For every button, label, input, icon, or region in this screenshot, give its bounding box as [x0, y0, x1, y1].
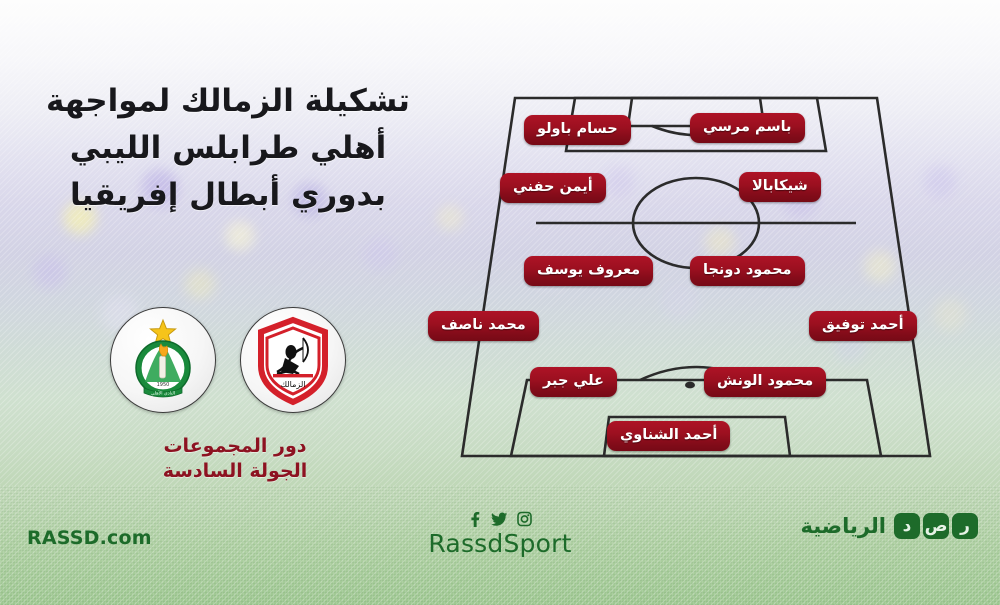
- footer-social: RassdSport: [400, 508, 600, 558]
- footer-logo-letter-3: د: [894, 513, 920, 539]
- player-chip-winger-right[interactable]: شيكابالا: [739, 172, 821, 202]
- player-chip-fullback-left[interactable]: محمد ناصف: [428, 311, 539, 341]
- footer-site-link[interactable]: RASSD.com: [27, 527, 152, 549]
- player-chip-midfield-left[interactable]: معروف يوسف: [524, 256, 653, 286]
- player-chip-forward-right[interactable]: باسم مرسي: [690, 113, 805, 143]
- facebook-icon[interactable]: [468, 511, 481, 527]
- player-chip-fullback-right[interactable]: أحمد توفيق: [809, 311, 917, 341]
- round-info: دور المجموعات الجولة السادسة: [100, 434, 370, 483]
- crest-ahli-tripoli-art: 1950 النادي الأهلي: [111, 308, 215, 412]
- footer-logo-text: الرياضية: [800, 514, 886, 538]
- crest-ahli-tripoli: 1950 النادي الأهلي: [110, 307, 216, 413]
- headline-line-1: تشكيلة الزمالك لمواجهة: [18, 78, 438, 125]
- headline-line-3: بدوري أبطال إفريقيا: [18, 172, 438, 219]
- club-crests: 1950 النادي الأهلي الزمالك: [110, 305, 360, 420]
- player-chip-goalkeeper[interactable]: أحمد الشناوي: [607, 421, 730, 451]
- penalty-spot-marker: [685, 382, 695, 389]
- headline-line-2: أهلي طرابلس الليبي: [18, 125, 438, 172]
- crest-ahli-ribbon-text: النادي الأهلي: [151, 390, 175, 397]
- crest-zamalek: الزمالك: [240, 307, 346, 413]
- player-chip-centerback-left[interactable]: علي جبر: [530, 367, 617, 397]
- footer-logo: ر ص د الرياضية: [800, 513, 978, 539]
- player-chip-winger-left[interactable]: أيمن حفني: [500, 173, 606, 203]
- player-chip-midfield-right[interactable]: محمود دونجا: [690, 256, 805, 286]
- lineup-graphic: تشكيلة الزمالك لمواجهة أهلي طرابلس الليب…: [0, 0, 1000, 605]
- round-matchday: الجولة السادسة: [100, 459, 370, 484]
- crest-zamalek-text: الزمالك: [281, 380, 306, 389]
- footer-logo-letter-2: ص: [923, 513, 949, 539]
- player-chip-centerback-right[interactable]: محمود الونش: [704, 367, 826, 397]
- social-icon-row: [400, 508, 600, 528]
- crest-ahli-founded-year: 1950: [157, 382, 170, 388]
- player-chip-forward-left[interactable]: حسام باولو: [524, 115, 631, 145]
- instagram-icon[interactable]: [517, 511, 532, 527]
- round-stage: دور المجموعات: [100, 434, 370, 459]
- headline: تشكيلة الزمالك لمواجهة أهلي طرابلس الليب…: [18, 78, 438, 219]
- footer-social-handle[interactable]: RassdSport: [400, 529, 600, 558]
- crest-zamalek-art: الزمالك: [241, 308, 345, 412]
- twitter-icon[interactable]: [491, 511, 508, 527]
- footer-logo-mark: ر ص د: [894, 513, 978, 539]
- footer-logo-letter-1: ر: [952, 513, 978, 539]
